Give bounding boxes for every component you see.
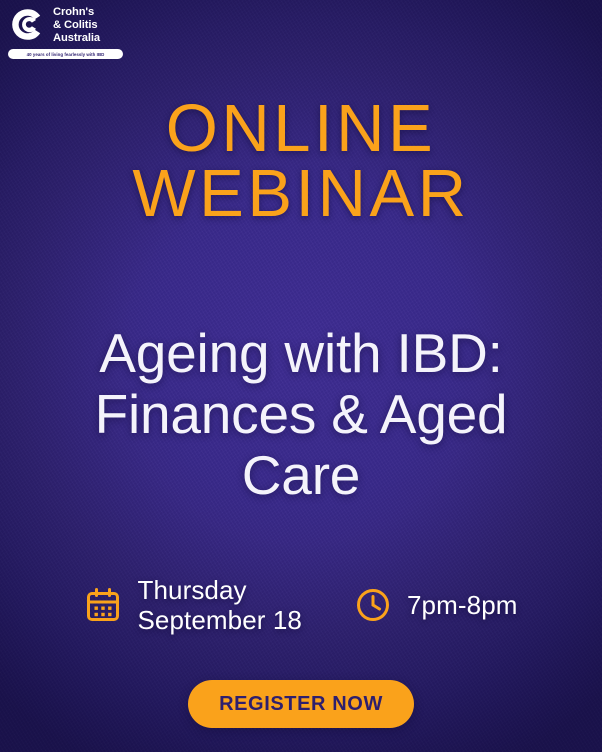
- subtitle-line-2: Finances & Aged: [0, 384, 602, 445]
- subtitle-line-3: Care: [0, 445, 602, 506]
- event-date: Thursday September 18: [84, 575, 302, 635]
- webinar-promo-poster: Crohn's & Colitis Australia 40 years of …: [0, 0, 602, 752]
- event-date-line-2: September 18: [137, 605, 302, 635]
- subtitle: Ageing with IBD: Finances & Aged Care: [0, 323, 602, 505]
- event-time: 7pm-8pm: [354, 586, 518, 624]
- register-now-button[interactable]: REGISTER NOW: [188, 680, 414, 728]
- logo-row: Crohn's & Colitis Australia: [7, 5, 123, 45]
- logo-name-line-1: Crohn's: [53, 6, 100, 19]
- event-time-text: 7pm-8pm: [407, 590, 518, 620]
- calendar-icon: [84, 586, 122, 624]
- headline-line-2: WEBINAR: [0, 161, 602, 226]
- headline-line-1: ONLINE: [0, 96, 602, 161]
- organisation-logo: Crohn's & Colitis Australia 40 years of …: [7, 5, 123, 59]
- logo-tagline: 40 years of living fearlessly with IBD: [8, 49, 123, 59]
- event-details: Thursday September 18 7pm-8pm: [0, 575, 602, 635]
- logo-name-line-2: & Colitis: [53, 19, 100, 32]
- logo-name-line-3: Australia: [53, 32, 100, 45]
- cc-monogram-icon: [7, 6, 47, 43]
- clock-icon: [354, 586, 392, 624]
- headline: ONLINE WEBINAR: [0, 96, 602, 226]
- event-date-line-1: Thursday: [137, 575, 302, 605]
- event-date-text: Thursday September 18: [137, 575, 302, 635]
- subtitle-line-1: Ageing with IBD:: [0, 323, 602, 384]
- logo-wordmark: Crohn's & Colitis Australia: [53, 5, 100, 45]
